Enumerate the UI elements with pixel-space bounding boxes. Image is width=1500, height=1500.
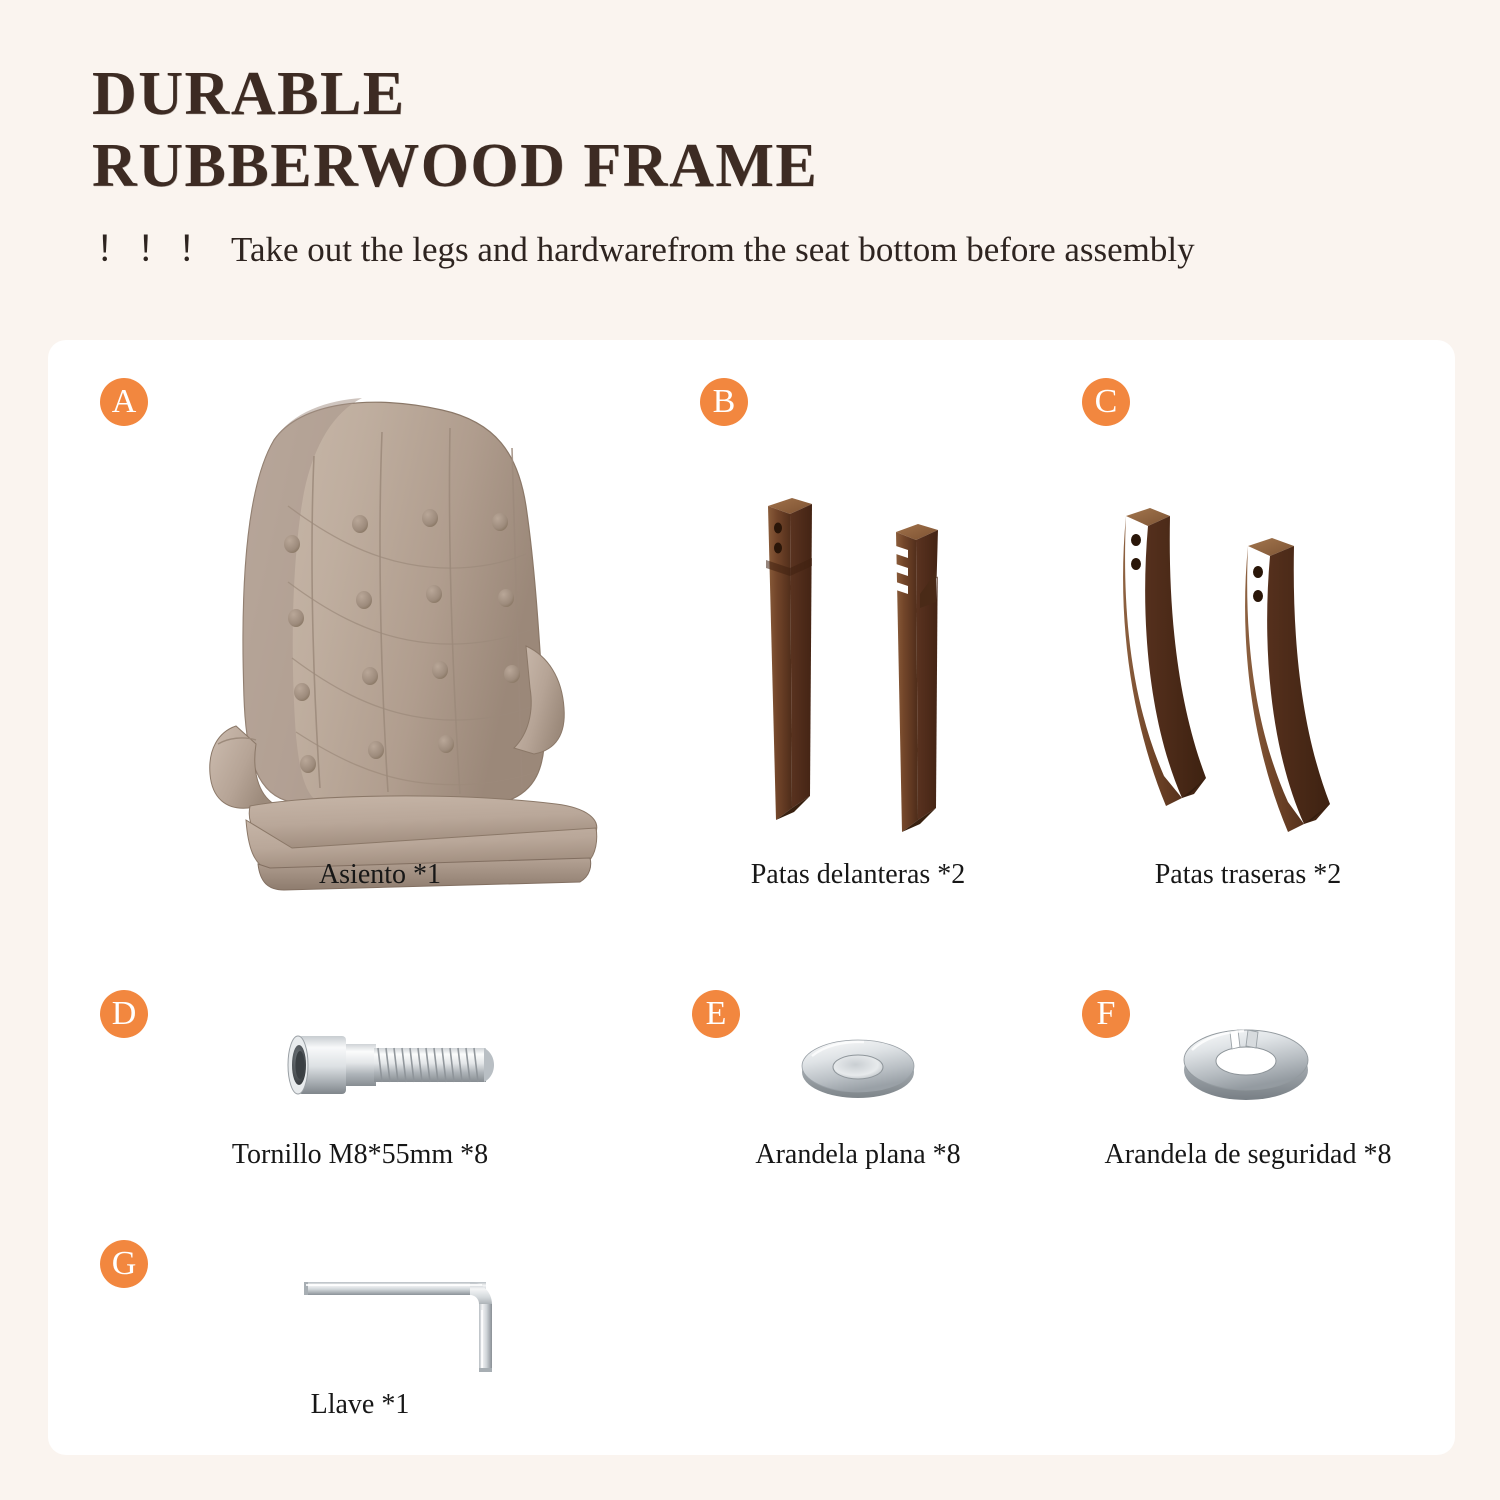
part-f-caption: Arandela de seguridad *8 [1038,1138,1458,1172]
part-f-lock-washer: F [1038,990,1458,1220]
part-badge-a: A [100,378,148,426]
allen-key-short-arm [479,1304,492,1372]
allen-key-icon [298,1252,528,1387]
front-leg-right [896,524,938,832]
socket-head-bolt-icon [272,1018,502,1118]
bolt-threads [374,1048,494,1082]
lock-washer-icon [1166,1012,1326,1112]
rear-leg-pair-icon [1108,498,1388,838]
title-line-2: RUBBERWOOD FRAME [92,130,1500,202]
part-a-seat: A [100,378,660,938]
rear-leg-left [1123,508,1206,806]
page-title: DURABLE RUBBERWOOD FRAME [0,0,1500,202]
rear-leg-right [1245,538,1330,832]
flat-washer-icon [788,1026,928,1106]
part-d-bolt: D [100,990,620,1220]
front-leg-pair-icon [748,490,988,840]
header: DURABLE RUBBERWOOD FRAME ！！！Take out the… [0,0,1500,272]
part-c-caption: Patas traseras *2 [1038,858,1458,892]
title-line-1: DURABLE [92,60,406,128]
allen-key-long-arm [304,1282,486,1295]
part-badge-b: B [700,378,748,426]
subtitle-text: Take out the legs and hardwarefrom the s… [231,230,1195,269]
part-badge-d: D [100,990,148,1038]
part-badge-f: F [1082,990,1130,1038]
parts-card: A [48,340,1455,1455]
part-badge-g: G [100,1240,148,1288]
part-badge-c: C [1082,378,1130,426]
part-e-caption: Arandela plana *8 [648,1138,1068,1172]
part-badge-e: E [692,990,740,1038]
part-g-caption: Llave *1 [100,1388,620,1422]
front-leg-left [766,498,812,820]
warning-subtitle: ！！！Take out the legs and hardwarefrom th… [0,202,1500,272]
part-c-rear-legs: C [1038,378,1458,938]
upholstered-chair-seat-icon [196,396,636,896]
part-a-caption: Asiento *1 [100,858,660,892]
part-e-flat-washer: E [648,990,1068,1220]
part-b-front-legs: B [648,378,1068,938]
part-g-allen-key: G [100,1240,620,1440]
part-b-caption: Patas delanteras *2 [648,858,1068,892]
exclamation-marks: ！！！ [96,230,219,269]
part-d-caption: Tornillo M8*55mm *8 [100,1138,620,1172]
assembly-parts-page: DURABLE RUBBERWOOD FRAME ！！！Take out the… [0,0,1500,1500]
